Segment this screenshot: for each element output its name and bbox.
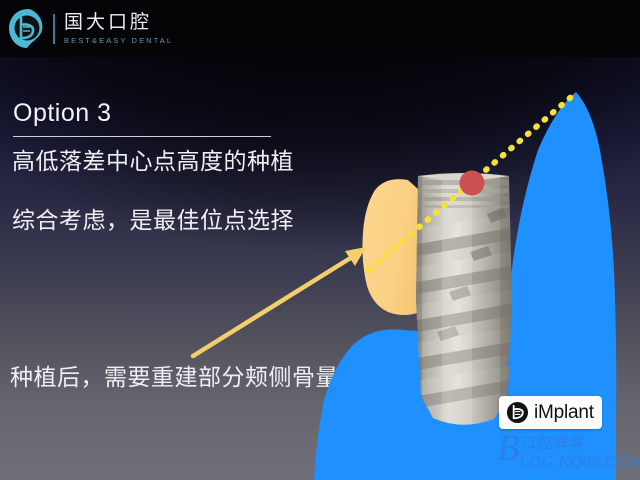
implant-badge-label: iMplant bbox=[534, 402, 594, 424]
logo-divider bbox=[53, 14, 55, 44]
slide-canvas: 国大口腔 BEST&EASY DENTAL Option 3 高低落差中心点高度… bbox=[0, 0, 640, 480]
watermark-text-cn: 口腔博客 bbox=[521, 432, 585, 453]
dental-implant-screw bbox=[406, 173, 524, 426]
implant-brand-badge[interactable]: iMplant bbox=[499, 396, 602, 429]
center-point-marker bbox=[460, 171, 485, 196]
pointer-arrow bbox=[193, 247, 366, 356]
brand-name-cn: 国大口腔 bbox=[64, 12, 173, 33]
b-circle-dark-icon bbox=[506, 401, 529, 424]
brand-name-en: BEST&EASY DENTAL bbox=[64, 35, 173, 47]
site-watermark: B 口腔博客 LOG.KQ88.COM bbox=[497, 434, 520, 465]
top-brand-bar: 国大口腔 BEST&EASY DENTAL bbox=[0, 0, 640, 57]
b-circle-logo-icon bbox=[8, 8, 48, 50]
watermark-initial: B bbox=[497, 428, 520, 469]
watermark-url: LOG.KQ88.COM bbox=[519, 452, 640, 472]
brand-logo[interactable]: 国大口腔 BEST&EASY DENTAL bbox=[8, 7, 173, 51]
